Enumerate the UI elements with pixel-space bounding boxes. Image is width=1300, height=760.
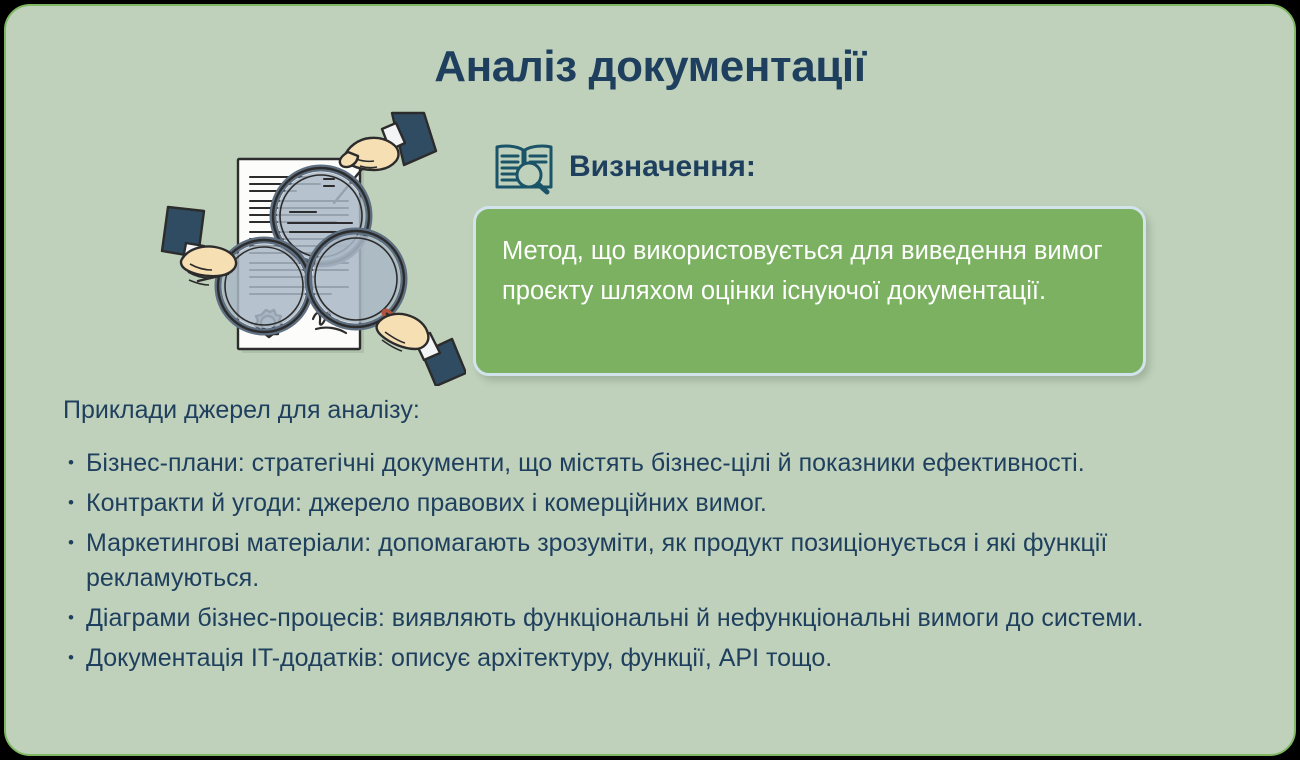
bullet-icon: • (68, 655, 86, 661)
definition-box: Метод, що використовується для виведення… (473, 206, 1146, 376)
list-item: • Діаграми бізнес-процесів: виявляють фу… (68, 601, 1268, 636)
list-item: • Контракти й угоди: джерело правових і … (68, 486, 1268, 521)
definition-label: Визначення: (569, 150, 756, 184)
list-item: • Маркетингові матеріали: допомагають зр… (68, 526, 1268, 596)
list-item-label: Бізнес-плани: стратегічні документи, що … (86, 446, 1085, 481)
sources-list: • Бізнес-плани: стратегічні документи, щ… (68, 446, 1268, 681)
list-item-label: Контракти й угоди: джерело правових і ко… (86, 486, 767, 521)
book-magnifier-icon (493, 139, 555, 195)
slide-canvas: Аналіз документації .ol { stroke:#2C2C2C… (4, 4, 1296, 756)
bullet-icon: • (68, 460, 86, 466)
list-item-label: Діаграми бізнес-процесів: виявляють функ… (86, 601, 1143, 636)
bullet-icon: • (68, 615, 86, 621)
list-item: • Документація IT-додатків: описує архіт… (68, 641, 1268, 676)
list-item: • Бізнес-плани: стратегічні документи, щ… (68, 446, 1268, 481)
list-item-label: Маркетингові матеріали: допомагають зроз… (86, 526, 1234, 596)
list-item-label: Документація IT-додатків: описує архітек… (86, 641, 832, 676)
bullet-icon: • (68, 500, 86, 506)
page-title: Аналіз документації (6, 42, 1294, 92)
definition-heading: Визначення: (493, 139, 756, 195)
document-analysis-illustration: .ol { stroke:#2C2C2C; stroke-width:2.4; … (156, 111, 466, 386)
sources-intro-label: Приклади джерел для аналізу: (63, 396, 420, 425)
definition-text: Метод, що використовується для виведення… (502, 231, 1112, 311)
bullet-icon: • (68, 540, 86, 546)
